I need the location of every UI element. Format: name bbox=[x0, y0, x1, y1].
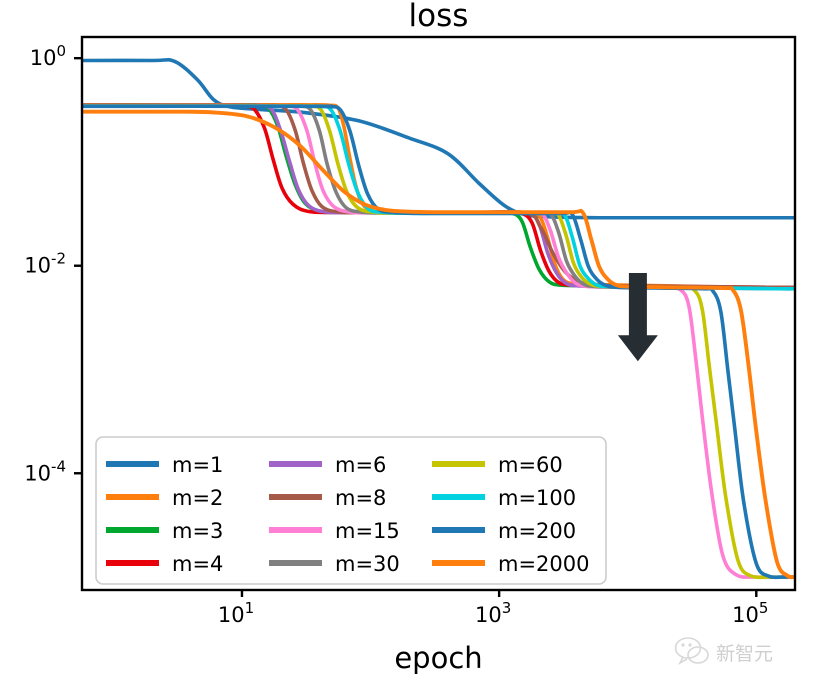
loss-chart: loss 101103105 10010-210-4 epoch m=1m=2m… bbox=[0, 0, 825, 680]
y-tick-group: 10010-210-4 bbox=[24, 42, 82, 485]
series-line-m-30 bbox=[82, 106, 795, 289]
x-tick-group: 101103105 bbox=[218, 590, 769, 627]
legend-label-m-1: m=1 bbox=[172, 453, 223, 477]
watermark-group: 新智元 bbox=[676, 638, 774, 665]
series-line-m-2 bbox=[82, 105, 795, 288]
x-tick-label-0: 101 bbox=[218, 599, 254, 627]
series-line-m-1 bbox=[82, 60, 795, 218]
chart-title: loss bbox=[409, 0, 469, 34]
legend-label-m-2000: m=2000 bbox=[498, 552, 590, 576]
y-tick-label-1: 10-2 bbox=[24, 250, 66, 278]
wechat-icon bbox=[676, 638, 709, 663]
series-line-m-8 bbox=[82, 106, 795, 288]
figure-container: loss 101103105 10010-210-4 epoch m=1m=2m… bbox=[0, 0, 825, 680]
x-tick-label-2: 105 bbox=[732, 599, 768, 627]
series-line-m-3 bbox=[82, 105, 795, 287]
x-axis-title-group: epoch bbox=[394, 641, 482, 675]
series-line-m-4 bbox=[82, 105, 795, 287]
chart-title-group: loss bbox=[409, 0, 469, 34]
x-axis-title: epoch bbox=[394, 641, 482, 675]
series-line-m-6 bbox=[82, 105, 795, 288]
y-tick-label-2: 10-4 bbox=[24, 457, 66, 485]
legend-label-m-15: m=15 bbox=[335, 519, 400, 543]
legend-label-m-3: m=3 bbox=[172, 519, 223, 543]
legend-group: m=1m=2m=3m=4m=6m=8m=15m=30m=60m=100m=200… bbox=[96, 437, 606, 584]
legend-label-m-60: m=60 bbox=[498, 453, 563, 477]
legend-label-m-2: m=2 bbox=[172, 486, 223, 510]
series-line-m-100 bbox=[82, 106, 795, 289]
x-tick-label-1: 103 bbox=[475, 599, 511, 627]
legend-label-m-30: m=30 bbox=[335, 552, 400, 576]
legend-label-m-8: m=8 bbox=[335, 486, 386, 510]
y-tick-label-0: 100 bbox=[30, 42, 66, 70]
legend-label-m-6: m=6 bbox=[335, 453, 386, 477]
legend-label-m-4: m=4 bbox=[172, 552, 223, 576]
legend-label-m-200: m=200 bbox=[498, 519, 576, 543]
watermark-text: 新智元 bbox=[716, 643, 773, 665]
legend-label-m-100: m=100 bbox=[498, 486, 576, 510]
